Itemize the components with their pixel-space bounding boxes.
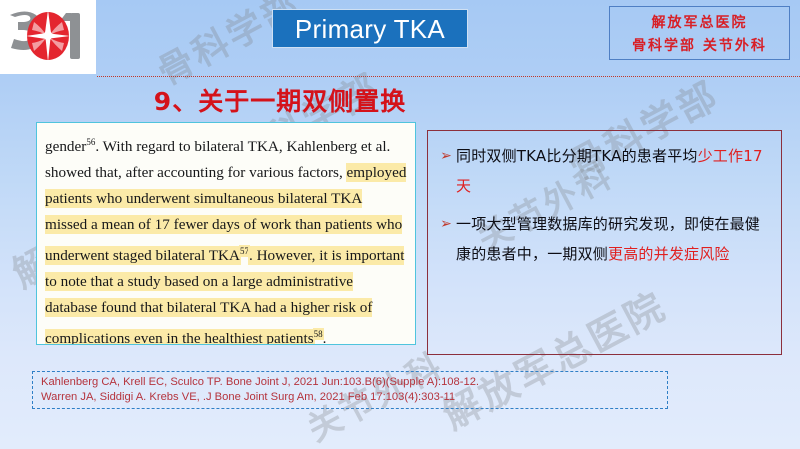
section-heading: 9、关于一期双侧置换 — [0, 82, 560, 118]
slide-canvas: 解放军总医院骨科学部 骨科学部 骨科学部 解放军总医院 关节外科 杰勇 关节外科… — [0, 0, 800, 449]
header-divider — [97, 76, 800, 77]
excerpt-ref-56: 56 — [86, 137, 95, 147]
slide-title-box: Primary TKA — [272, 9, 468, 48]
excerpt-part3: . — [323, 330, 327, 345]
organization-box: 解放军总医院 骨科学部 关节外科 — [609, 6, 790, 60]
excerpt-part1: gender — [45, 138, 86, 155]
paper-excerpt-text: gender56. With regard to bilateral TKA, … — [45, 129, 407, 345]
bullet-emphasis: 更高的并发症风险 — [608, 245, 730, 263]
excerpt-ref-58: 58 — [314, 329, 323, 339]
bullet-panel: ➢ 同时双侧TKA比分期TKA的患者平均少工作17天 ➢ 一项大型管理数据库的研… — [427, 130, 782, 355]
list-item: ➢ 一项大型管理数据库的研究发现，即使在最健康的患者中，一期双侧更高的并发症风险 — [436, 209, 771, 269]
bullet-normal: 同时双侧TKA比分期TKA的患者平均 — [456, 147, 698, 165]
page-title: Primary TKA — [295, 16, 445, 42]
hospital-logo — [0, 0, 96, 74]
organization-department: 骨科学部 关节外科 — [632, 35, 767, 55]
citation-line: Warren JA, Siddigi A. Krebs VE, .J Bone … — [41, 390, 659, 405]
arrow-bullet-icon: ➢ — [436, 141, 456, 171]
excerpt-part2: . With regard to bilateral TKA, Kahlenbe… — [45, 138, 390, 181]
citation-box: Kahlenberg CA, Krell EC, Sculco TP. Bone… — [32, 371, 668, 409]
excerpt-ref-57: 57 — [240, 246, 249, 256]
list-item: ➢ 同时双侧TKA比分期TKA的患者平均少工作17天 — [436, 141, 771, 201]
bullet-text: 同时双侧TKA比分期TKA的患者平均少工作17天 — [456, 141, 771, 201]
301-logo-icon — [6, 6, 90, 68]
organization-name: 解放军总医院 — [652, 12, 748, 32]
bullet-text: 一项大型管理数据库的研究发现，即使在最健康的患者中，一期双侧更高的并发症风险 — [456, 209, 771, 269]
arrow-bullet-icon: ➢ — [436, 209, 456, 239]
paper-excerpt-box: gender56. With regard to bilateral TKA, … — [36, 122, 416, 345]
citation-line: Kahlenberg CA, Krell EC, Sculco TP. Bone… — [41, 375, 659, 390]
